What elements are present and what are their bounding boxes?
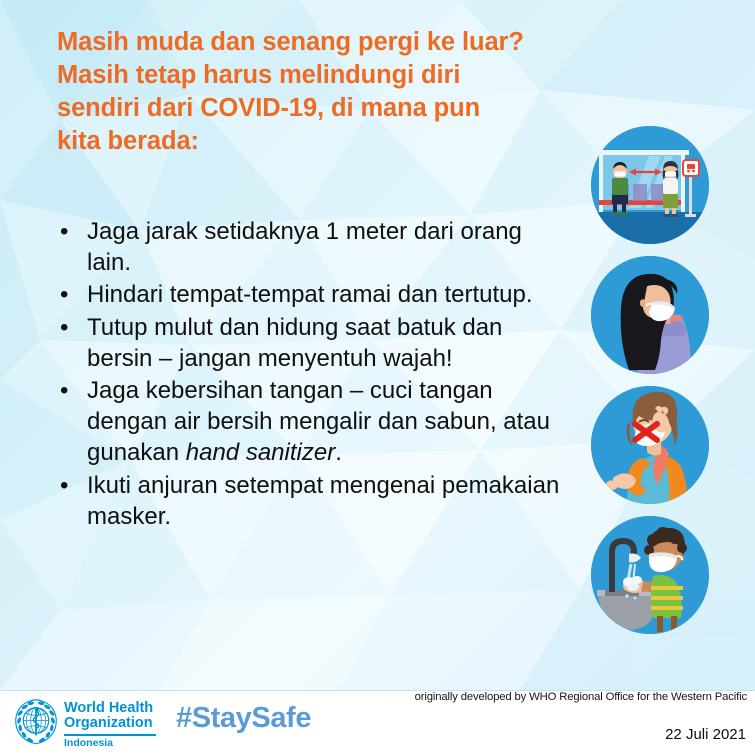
page-title: Masih muda dan senang pergi ke luar? Mas…: [57, 26, 577, 158]
illustration-avoid-crowded-places: [591, 256, 709, 374]
list-item: • Jaga jarak setidaknya 1 meter dari ora…: [56, 216, 566, 278]
list-item-text: Jaga jarak setidaknya 1 meter dari orang…: [87, 216, 566, 278]
headline-line-2: Masih tetap harus melindungi diri: [57, 59, 577, 92]
attribution-text: originally developed by WHO Regional Off…: [415, 691, 747, 703]
list-item-text-italic: hand sanitizer: [186, 439, 335, 466]
cover-cough-red-x-icon: [591, 386, 709, 504]
publish-date: 22 Juli 2021: [665, 726, 746, 743]
list-item: • Tutup mulut dan hidung saat batuk dan …: [56, 312, 566, 374]
who-wordmark: World Health Organization Indonesia: [64, 698, 156, 749]
physical-distancing-bus-stop-icon: [591, 126, 709, 244]
list-item-text: Hindari tempat-tempat ramai dan tertutup…: [87, 279, 566, 310]
bullet-marker-icon: •: [56, 279, 87, 310]
headline-line-1: Masih muda dan senang pergi ke luar?: [57, 26, 577, 59]
headline-line-3: sendiri dari COVID-19, di mana pun: [57, 92, 577, 125]
illustration-wash-hands: [591, 516, 709, 634]
list-item-text: Ikuti anjuran setempat mengenai pemakaia…: [87, 470, 566, 532]
illustration-physical-distancing-bus-stop: [591, 126, 709, 244]
bullet-marker-icon: •: [56, 216, 87, 247]
handwashing-sink-icon: [591, 516, 709, 634]
who-emblem-icon: [12, 698, 60, 746]
who-logo: World Health Organization Indonesia: [12, 698, 156, 749]
infographic-poster: Masih muda dan senang pergi ke luar? Mas…: [0, 0, 755, 755]
bullet-marker-icon: •: [56, 470, 87, 501]
masked-woman-profile-icon: [591, 256, 709, 374]
who-line-2: Organization: [64, 716, 156, 731]
staysafe-hashtag: #StaySafe: [176, 702, 311, 735]
who-line-1: World Health: [64, 701, 156, 716]
who-underline: [64, 734, 156, 736]
list-item: • Jaga kebersihan tangan – cuci tangan d…: [56, 375, 566, 469]
illustration-cover-cough-sneeze: [591, 386, 709, 504]
list-item: • Ikuti anjuran setempat mengenai pemaka…: [56, 470, 566, 532]
advice-list: • Jaga jarak setidaknya 1 meter dari ora…: [56, 216, 566, 533]
list-item-text: Tutup mulut dan hidung saat batuk dan be…: [87, 312, 566, 374]
list-item-text-after: .: [335, 439, 342, 466]
list-item: • Hindari tempat-tempat ramai dan tertut…: [56, 279, 566, 310]
bullet-marker-icon: •: [56, 375, 87, 406]
who-country-label: Indonesia: [64, 738, 156, 749]
bullet-marker-icon: •: [56, 312, 87, 343]
headline-line-4: kita berada:: [57, 125, 577, 158]
list-item-text: Jaga kebersihan tangan – cuci tangan den…: [87, 375, 566, 469]
